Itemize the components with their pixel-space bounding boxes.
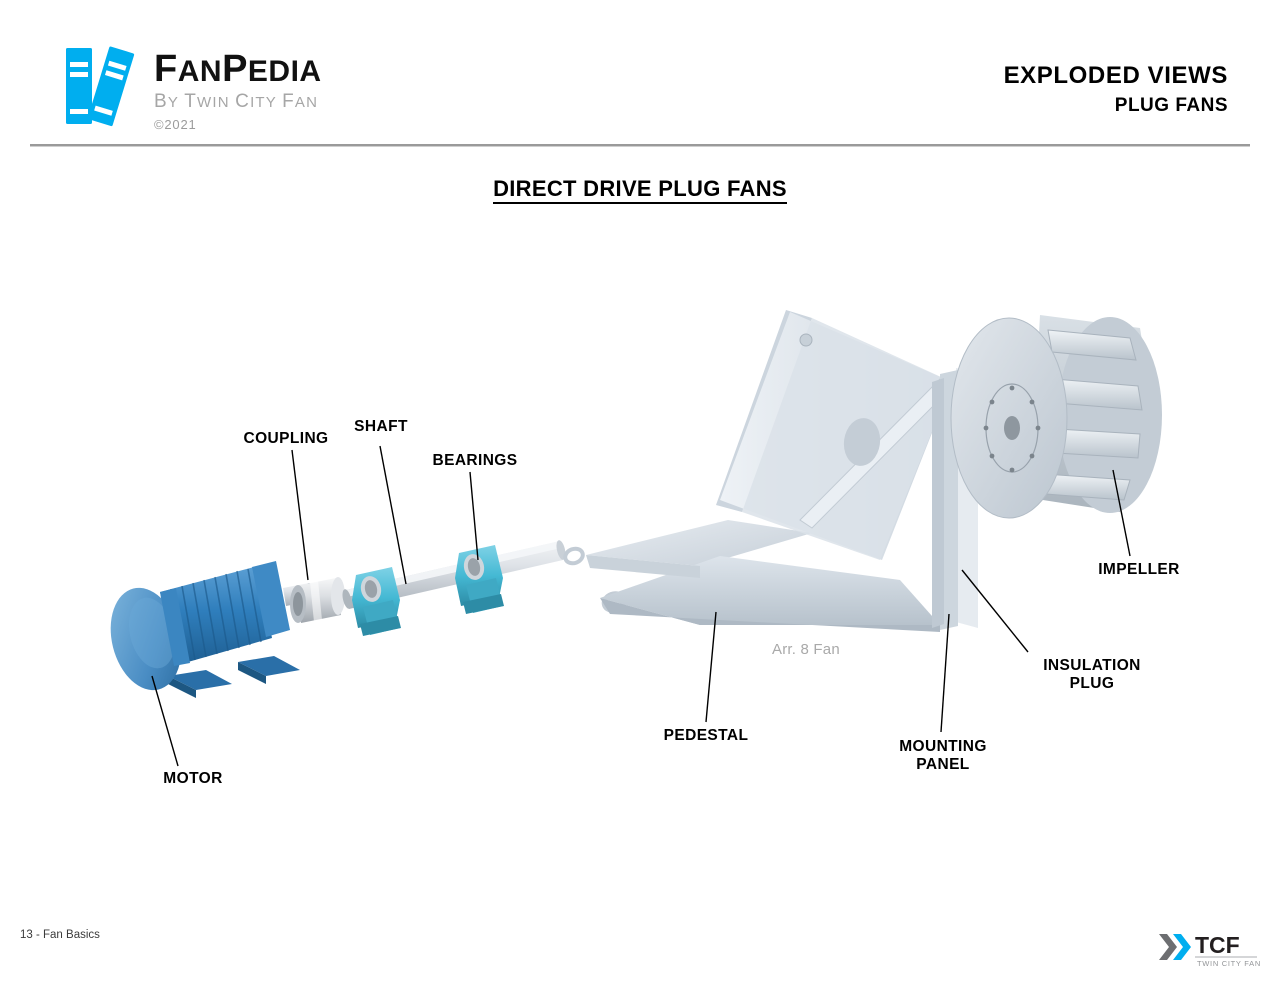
- tcf-logo-main: TCF: [1195, 932, 1240, 958]
- leader-mounting-panel: [941, 614, 949, 732]
- callout-impeller: IMPELLER: [1093, 561, 1185, 579]
- motor-part: [100, 561, 313, 698]
- arrangement-note: Arr. 8 Fan: [772, 641, 840, 658]
- callout-shaft: SHAFT: [346, 418, 416, 436]
- leader-pedestal: [706, 612, 716, 722]
- callout-bearings: BEARINGS: [428, 452, 522, 470]
- callout-coupling: COUPLING: [234, 430, 338, 448]
- impeller-part: [951, 315, 1162, 518]
- callout-mounting-panel: MOUNTING PANEL: [884, 738, 1002, 774]
- bearing-left-part: [352, 567, 401, 636]
- leader-motor: [152, 676, 178, 766]
- tcf-logo: TCF TWIN CITY FAN: [1157, 928, 1261, 968]
- tcf-logo-sub: TWIN CITY FAN: [1197, 959, 1261, 968]
- leader-shaft: [380, 446, 406, 584]
- callout-motor: MOTOR: [155, 770, 231, 788]
- callout-insulation-plug: INSULATION PLUG: [1027, 657, 1157, 693]
- exploded-view-diagram: [0, 0, 1280, 989]
- bearing-right-part: [455, 545, 504, 614]
- slide-page: FANPEDIA BY TWIN CITY FAN ©2021 EXPLODED…: [0, 0, 1280, 989]
- coupling-part: [290, 577, 345, 623]
- leader-coupling: [292, 450, 308, 580]
- footer-page-label: 13 - Fan Basics: [20, 929, 100, 941]
- callout-pedestal: PEDESTAL: [660, 727, 752, 745]
- leader-bearings: [470, 472, 478, 560]
